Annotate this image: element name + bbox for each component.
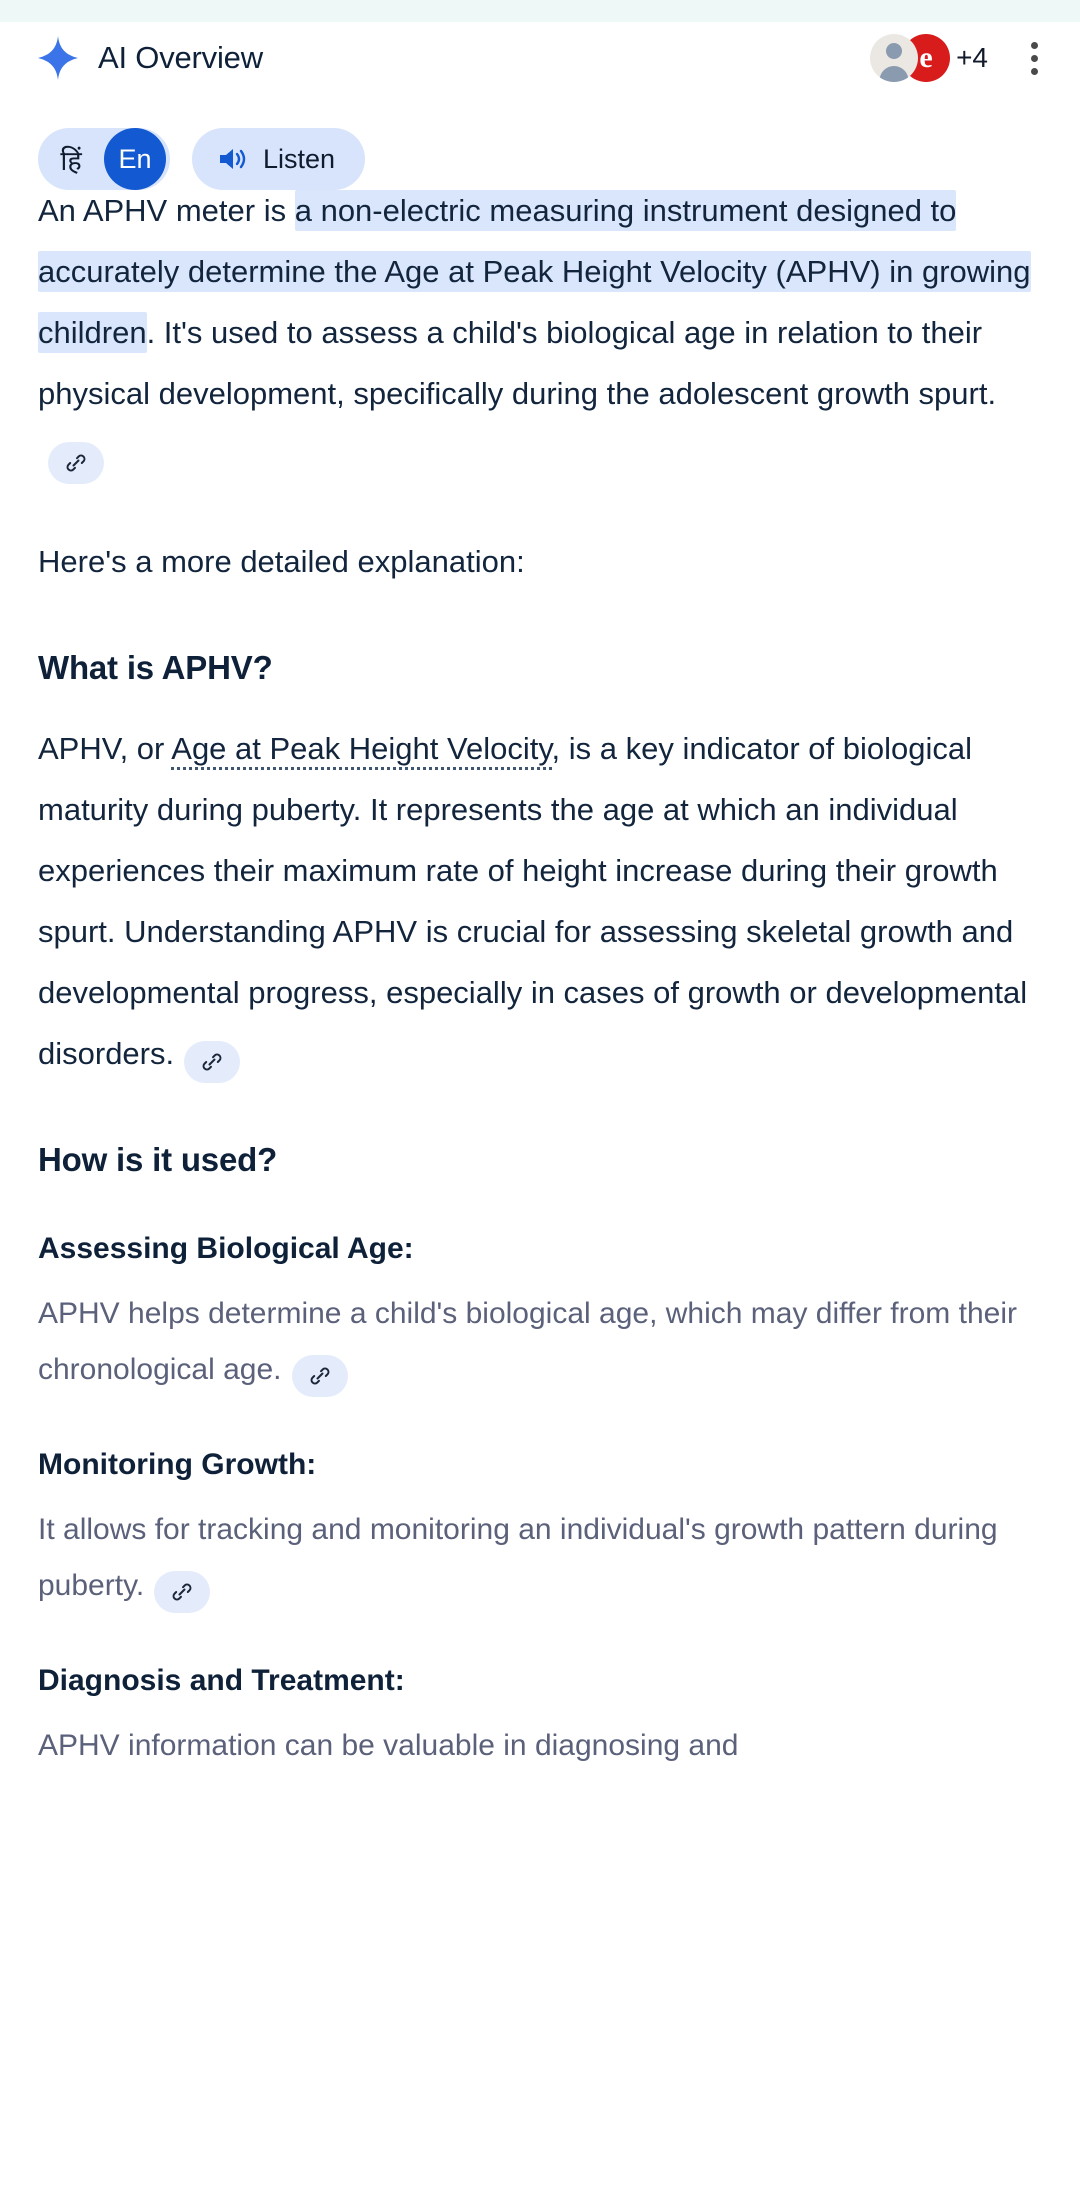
sub-text-body: APHV helps determine a child's biologica… [38, 1297, 1017, 1386]
avatar-stack[interactable]: e +4 [870, 33, 988, 83]
kebab-dot [1031, 55, 1038, 62]
section1-text-before: APHV, or [38, 731, 171, 766]
link-glyph [308, 1364, 332, 1388]
list-item: Assessing Biological Age: APHV helps det… [38, 1228, 1042, 1398]
sub-text: APHV helps determine a child's biologica… [38, 1286, 1042, 1398]
section1-text-after: , is a key indicator of biological matur… [38, 731, 1027, 1071]
kebab-dot [1031, 68, 1038, 75]
transition-paragraph: Here's a more detailed explanation: [38, 531, 1042, 592]
header-actions: e +4 [870, 33, 1052, 83]
section-heading-how-is-it-used: How is it used? [38, 1138, 1042, 1182]
avatar-overflow-count[interactable]: +4 [956, 42, 988, 74]
kebab-dot [1031, 42, 1038, 49]
sub-title: Diagnosis and Treatment: [38, 1660, 1042, 1702]
account-avatar-letter: e [919, 43, 932, 73]
sparkle-icon [38, 36, 78, 80]
ai-overview-content: An APHV meter is a non-electric measurin… [0, 180, 1080, 1774]
sub-title: Monitoring Growth: [38, 1444, 1042, 1486]
link-glyph [64, 451, 88, 475]
intro-lead: An APHV meter is [38, 193, 295, 228]
sub-text: APHV information can be valuable in diag… [38, 1718, 1042, 1774]
page-title: AI Overview [98, 40, 263, 76]
list-item: Monitoring Growth: It allows for trackin… [38, 1444, 1042, 1614]
section1-paragraph: APHV, or Age at Peak Height Velocity, is… [38, 718, 1042, 1084]
section-heading-what-is-aphv: What is APHV? [38, 646, 1042, 690]
speaker-icon [218, 145, 248, 173]
sub-title: Assessing Biological Age: [38, 1228, 1042, 1270]
link-icon[interactable] [48, 442, 104, 484]
ai-overview-header: AI Overview e +4 [0, 22, 1080, 94]
intro-paragraph: An APHV meter is a non-electric measurin… [38, 180, 1042, 485]
ai-overview-page: AI Overview e +4 हिं En [0, 0, 1080, 2198]
link-icon[interactable] [154, 1571, 210, 1613]
intro-tail: . It's used to assess a child's biologic… [38, 315, 996, 411]
kebab-menu-icon[interactable] [1016, 33, 1052, 83]
link-icon[interactable] [292, 1355, 348, 1397]
dotted-term[interactable]: Age at Peak Height Velocity [171, 731, 551, 770]
person-avatar-icon[interactable] [870, 34, 918, 82]
top-status-strip [0, 0, 1080, 22]
link-icon[interactable] [184, 1041, 240, 1083]
link-glyph [170, 1580, 194, 1604]
list-item: Diagnosis and Treatment: APHV informatio… [38, 1660, 1042, 1774]
brand-group: AI Overview [38, 36, 263, 80]
sub-text: It allows for tracking and monitoring an… [38, 1502, 1042, 1614]
link-glyph [200, 1050, 224, 1074]
listen-label: Listen [263, 144, 335, 175]
